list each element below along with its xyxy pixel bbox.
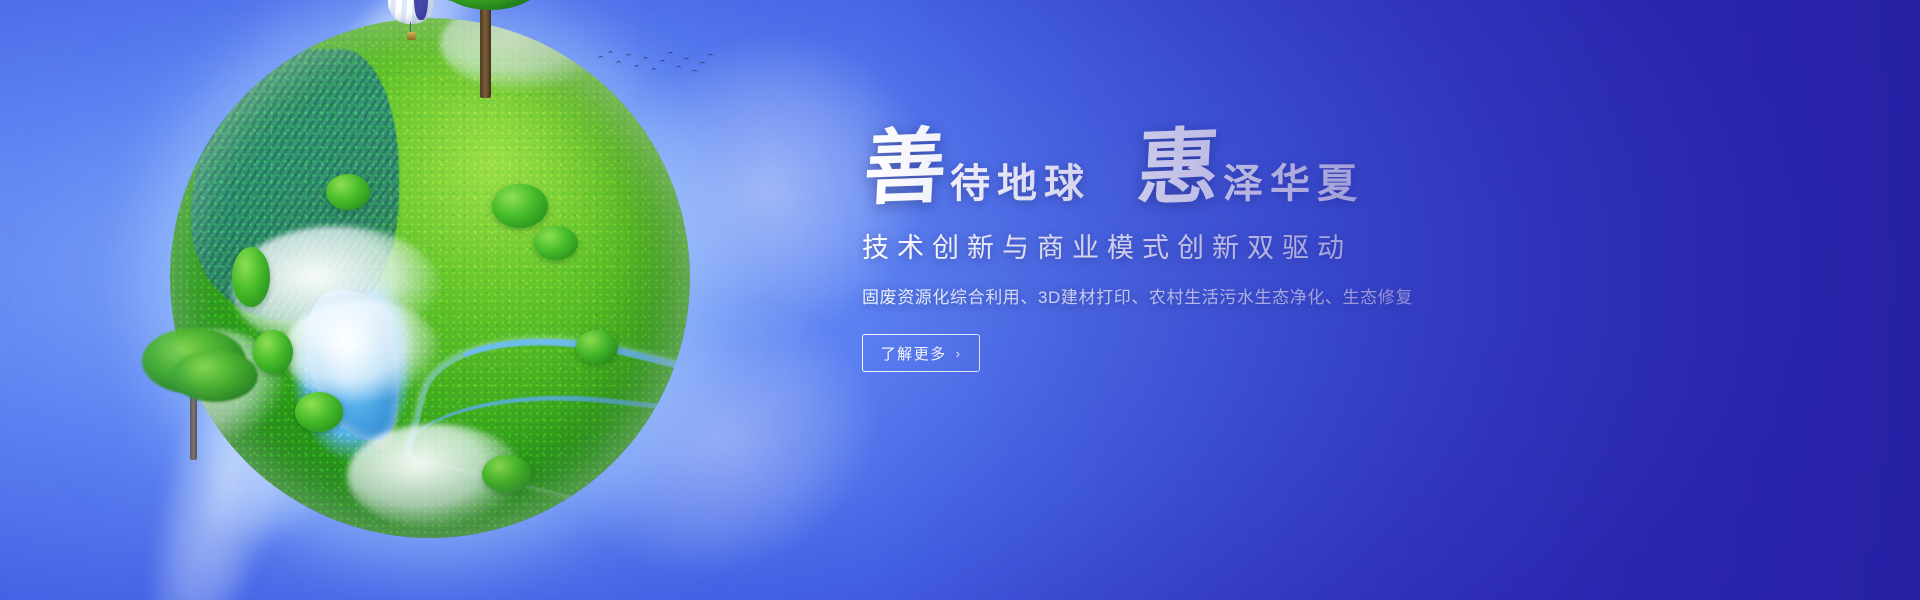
planet-bush [492, 184, 548, 228]
tree-icon [132, 322, 272, 472]
planet-cloud [440, 18, 617, 91]
globe-illustration [150, 0, 710, 600]
learn-more-button[interactable]: 了解更多 › [862, 334, 980, 372]
hero-description: 固废资源化综合利用、3D建材打印、农村生活污水生态净化、生态修复 [862, 283, 1582, 308]
planet-bush [534, 226, 578, 260]
planet-bush [253, 330, 293, 374]
hot-air-balloon-icon [388, 0, 434, 46]
sky-clouds [0, 0, 900, 600]
planet-bush [482, 455, 532, 493]
planet-lake [295, 281, 414, 452]
tree-icon [398, 0, 578, 104]
headline-text-2: 泽华夏 [1223, 164, 1364, 210]
headline-char-1: 善 [862, 125, 949, 210]
planet-rim-light [170, 18, 690, 538]
planet-texture [170, 18, 690, 538]
planet-atmosphere [170, 18, 690, 538]
birds-icon [596, 48, 716, 88]
planet-bush [576, 330, 618, 364]
hero-banner: 善 待地球 惠 泽华夏 技术创新与商业模式创新双驱动 固废资源化综合利用、3D建… [0, 0, 1920, 600]
chevron-right-icon: › [956, 347, 962, 360]
planet-cloud [232, 226, 440, 351]
planet-river [406, 304, 690, 533]
planet-cloud [170, 330, 284, 444]
headline-char-2: 惠 [1135, 125, 1222, 210]
planet-bush [232, 247, 270, 307]
hero-content: 善 待地球 惠 泽华夏 技术创新与商业模式创新双驱动 固废资源化综合利用、3D建… [862, 128, 1582, 372]
hero-subtitle: 技术创新与商业模式创新双驱动 [862, 226, 1582, 265]
green-planet-image [170, 18, 690, 538]
planet-cloud [347, 424, 524, 528]
planet-bush [326, 174, 370, 210]
page-title: 善 待地球 惠 泽华夏 [862, 128, 1582, 210]
planet-bush [295, 392, 343, 432]
planet-grass [170, 18, 690, 538]
headline-text-1: 待地球 [950, 164, 1091, 210]
planet-cloud [284, 299, 440, 403]
planet-river-secondary [393, 378, 690, 533]
planet-mountain-ridge [191, 49, 399, 319]
learn-more-label: 了解更多 [881, 343, 947, 364]
planet-lakeshore [328, 290, 406, 453]
